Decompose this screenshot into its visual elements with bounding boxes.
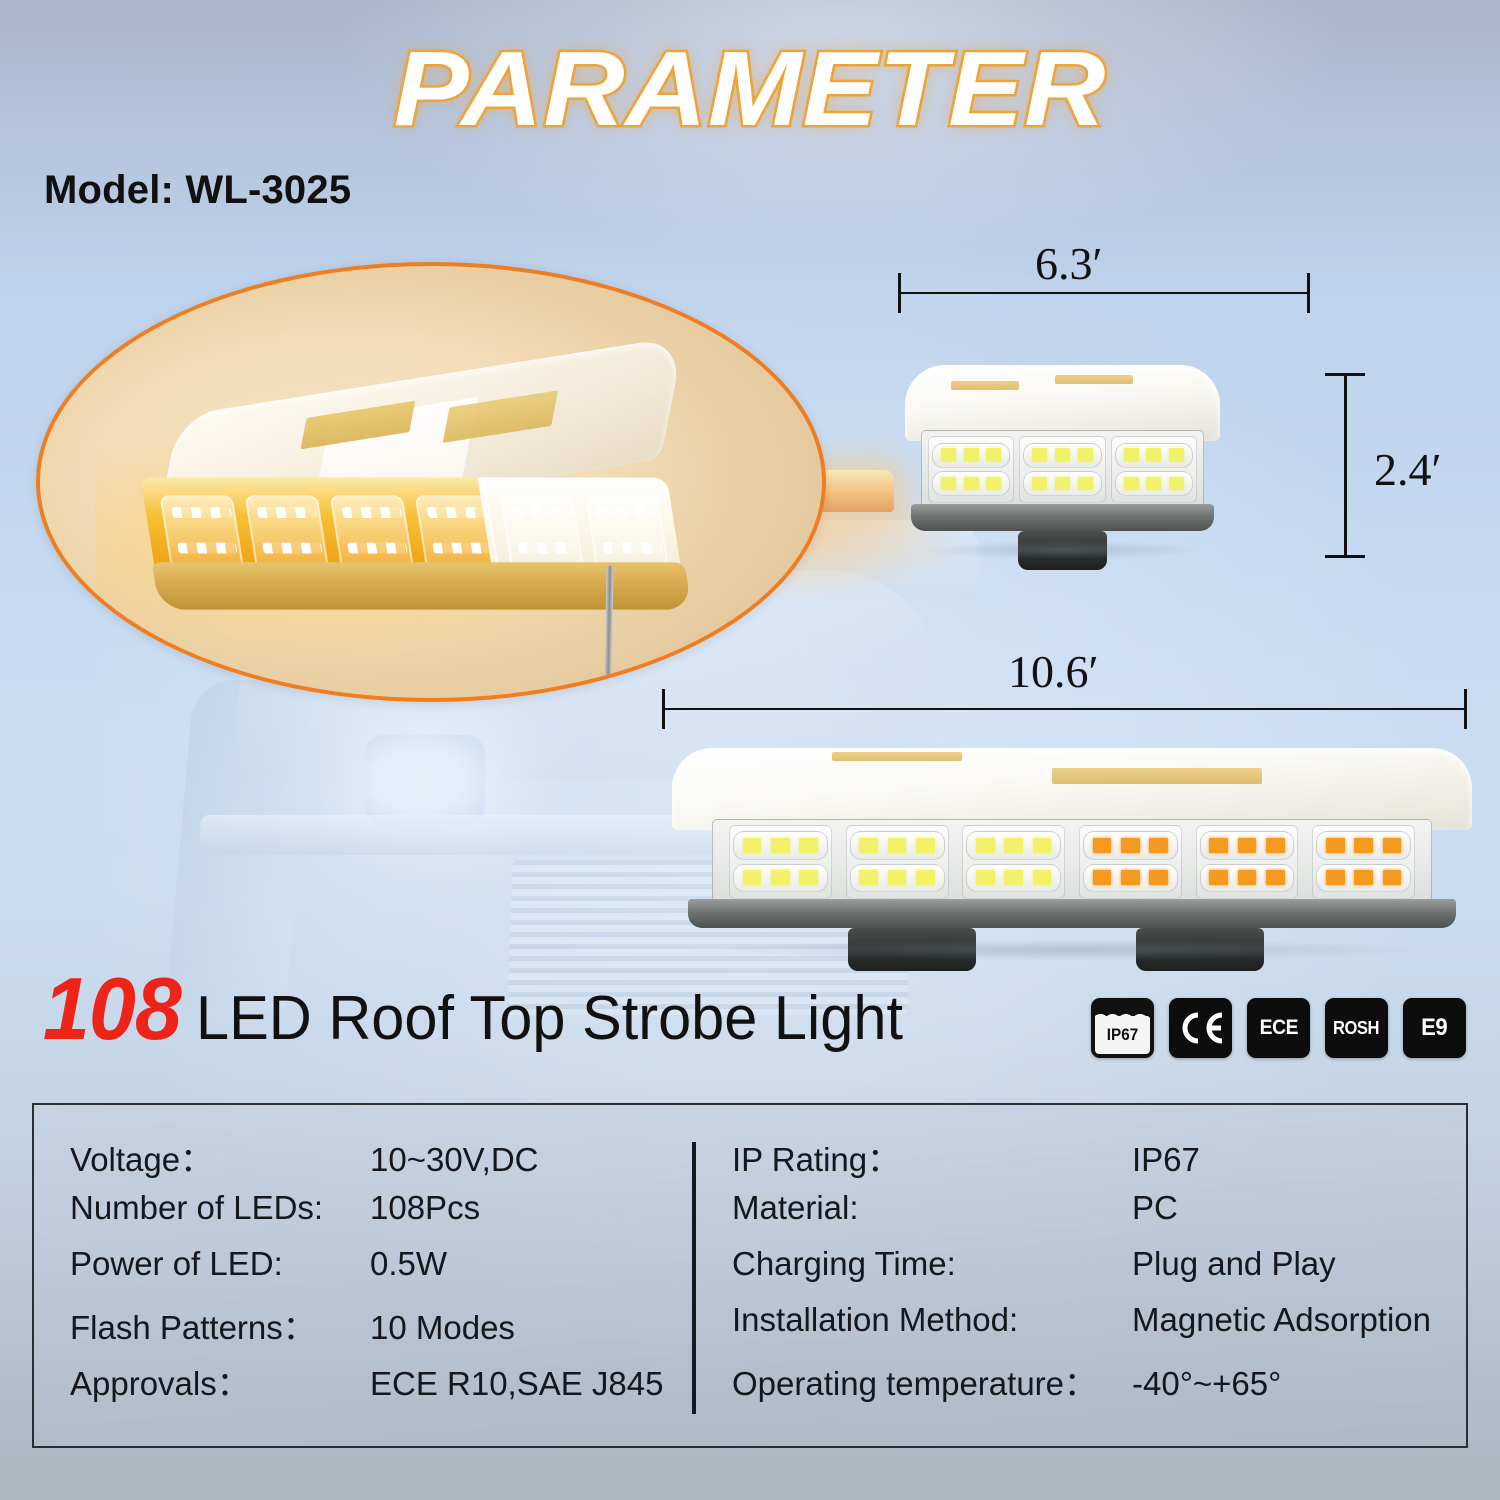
spec-key: Number of LEDs: (70, 1189, 370, 1227)
spec-value: Magnetic Adsorption (1132, 1301, 1431, 1339)
spec-row: Material: PC (732, 1189, 1452, 1245)
spec-row: Installation Method: Magnetic Adsorption (732, 1301, 1452, 1357)
spec-row: Charging Time: Plug and Play (732, 1245, 1452, 1301)
compact-skirt (911, 504, 1213, 531)
spec-row: Approvals： ECE R10,SAE J845 (70, 1357, 680, 1413)
led-module-white (962, 825, 1065, 899)
spec-key: IP Rating： (732, 1133, 1132, 1181)
led-module-amber (1196, 825, 1299, 899)
dome-stripe (1052, 768, 1262, 784)
e9-badge-label: E9 (1421, 1014, 1447, 1042)
spec-key: Voltage： (70, 1133, 370, 1181)
model-label: Model: WL-3025 (44, 168, 351, 213)
ece-badge-label: ECE (1259, 1016, 1297, 1040)
spec-value: 108Pcs (370, 1189, 480, 1227)
lens-module (245, 495, 330, 570)
compact-shadow (924, 541, 1201, 559)
led-module (1019, 436, 1105, 503)
dimension-line-height (1344, 373, 1347, 558)
spec-column-right: IP Rating： IP67 Material: PC Charging Ti… (732, 1133, 1452, 1413)
lens-module (415, 495, 500, 570)
spec-value: 0.5W (370, 1245, 447, 1283)
lens-module (159, 495, 244, 570)
spec-value: 10 Modes (370, 1309, 515, 1347)
spec-value: 10~30V,DC (370, 1141, 539, 1179)
water-wave-icon: IP67 (1095, 1016, 1150, 1054)
ip67-badge-label: IP67 (1107, 1025, 1138, 1045)
ece-badge: ECE (1247, 998, 1310, 1058)
led-count: 108 (43, 965, 181, 1053)
led-module (928, 436, 1014, 503)
spec-value: Plug and Play (1132, 1245, 1336, 1283)
spec-value: IP67 (1132, 1141, 1200, 1179)
led-module-white (729, 825, 832, 899)
ce-badge (1169, 998, 1232, 1058)
spec-value: ECE R10,SAE J845 (370, 1365, 664, 1403)
compact-lens (921, 430, 1205, 509)
panel-divider (692, 1142, 696, 1414)
e9-badge: E9 (1403, 998, 1466, 1058)
dome-stripe (951, 381, 1019, 390)
certification-badges: IP67 ECE ROSH E9 (1091, 998, 1466, 1058)
dimension-label-length: 10.6′ (1008, 645, 1099, 698)
spec-key: Operating temperature： (732, 1357, 1132, 1405)
led-module-amber (1312, 825, 1415, 899)
spec-row: Flash Patterns： 10 Modes (70, 1301, 680, 1357)
led-module-amber (1079, 825, 1182, 899)
ce-mark-icon (1178, 1011, 1224, 1045)
dome-stripe (1055, 375, 1133, 384)
headline-text: LED Roof Top Strobe Light (196, 988, 903, 1050)
product-view-compact (905, 365, 1220, 545)
front-lens (712, 819, 1432, 905)
front-skirt (688, 899, 1456, 928)
dimension-label-width: 6.3′ (1035, 237, 1103, 290)
led-module (1111, 436, 1197, 503)
spec-row: Number of LEDs: 108Pcs (70, 1189, 680, 1245)
dome-stripe (832, 752, 962, 761)
product-view-front (672, 748, 1472, 944)
dimension-line-length (662, 708, 1467, 710)
spec-key: Charging Time: (732, 1245, 1132, 1283)
spec-key: Installation Method: (732, 1301, 1132, 1339)
infographic-canvas: PARAMETER Model: WL-3025 (0, 0, 1500, 1500)
spec-value: -40°~+65° (1132, 1365, 1281, 1403)
spec-row: Power of LED: 0.5W (70, 1245, 680, 1301)
dimension-line-width (898, 292, 1310, 294)
front-shadow (720, 940, 1424, 960)
spec-key: Material: (732, 1189, 1132, 1227)
dimension-label-height: 2.4′ (1374, 443, 1442, 496)
spec-key: Approvals： (70, 1357, 370, 1405)
rosh-badge: ROSH (1325, 998, 1388, 1058)
ip67-badge: IP67 (1091, 998, 1154, 1058)
product-headline: 108 LED Roof Top Strobe Light (40, 965, 932, 1053)
spec-column-left: Voltage： 10~30V,DC Number of LEDs: 108Pc… (70, 1133, 680, 1413)
front-dome (672, 748, 1472, 830)
spec-row: IP Rating： IP67 (732, 1133, 1452, 1189)
lens-module (330, 495, 415, 570)
spec-row: Operating temperature： -40°~+65° (732, 1357, 1452, 1413)
product-photo-oval (36, 262, 826, 702)
spec-key: Flash Patterns： (70, 1301, 370, 1349)
spec-key: Power of LED: (70, 1245, 370, 1283)
led-module-white (846, 825, 949, 899)
lens-module (500, 495, 585, 570)
specifications-panel: Voltage： 10~30V,DC Number of LEDs: 108Pc… (32, 1103, 1468, 1448)
spec-value: PC (1132, 1189, 1178, 1227)
lens-module (585, 495, 670, 570)
page-title: PARAMETER (0, 36, 1500, 142)
rosh-badge-label: ROSH (1333, 1018, 1379, 1039)
spec-row: Voltage： 10~30V,DC (70, 1133, 680, 1189)
